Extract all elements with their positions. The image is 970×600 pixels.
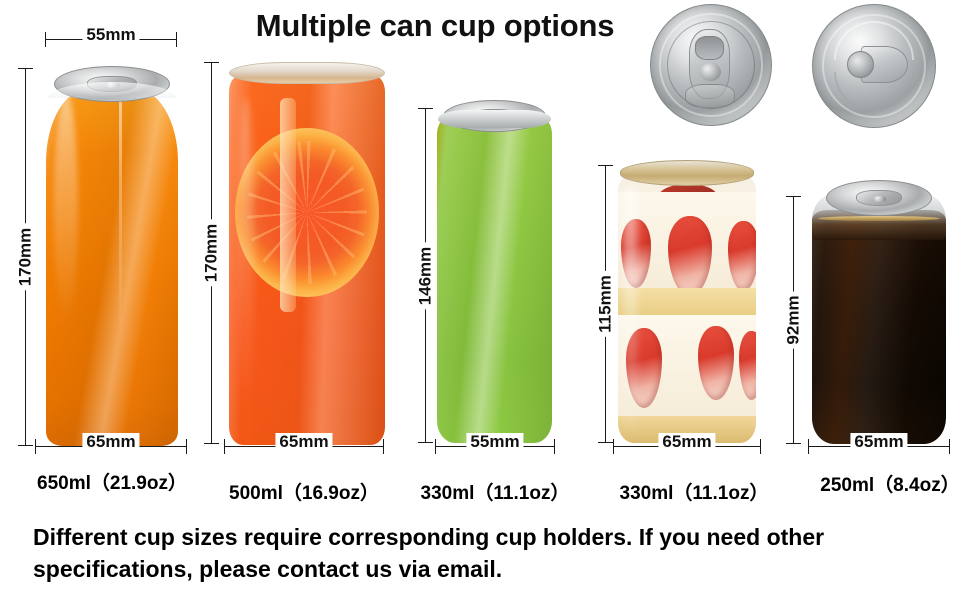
cake-layer [618,288,756,315]
bottle-seam [119,92,122,332]
volume-caption-product-4: 330ml（11.1oz） [604,478,784,505]
can-rim [229,62,385,84]
dimension-base-width-product-5: 65mm [808,437,950,455]
can-lid [826,180,932,216]
volume-caption-product-5: 250ml（8.4oz） [800,470,970,497]
bottle-gloss [54,92,78,328]
jar-body [618,176,756,443]
infographic-canvas: Multiple can cup options 55mm 170mm [0,0,970,600]
can-body [812,210,946,444]
strawberry-slice [728,221,756,290]
footer-note: Different cup sizes require correspondin… [33,521,933,585]
straw-graphic [280,98,296,312]
lid-score-line [685,84,735,108]
dimension-height-product-3: 146mm [416,108,434,443]
dimension-base-width-product-1: 65mm [35,437,187,455]
dimension-width-top-product-1: 55mm [45,30,177,48]
product-image-cola-short-can [812,180,946,444]
tab-rivet [873,196,887,201]
dimension-height-product-2: 170mm [202,62,220,444]
dimension-height-product-5: 92mm [784,196,802,444]
page-title: Multiple can cup options [225,8,645,44]
wide-mouth-lid-icon [812,4,936,128]
jar-gloss [624,187,638,433]
can-gold-ring [818,216,940,221]
dimension-base-width-product-2: 65mm [224,437,384,455]
jar-cap-ring [620,160,754,186]
tab-hole [847,51,874,78]
dimension-base-width-product-4: 65mm [613,437,761,455]
product-image-orange-juice-bottle-can [46,66,178,446]
product-image-green-slim-can [437,100,552,443]
can-gloss [238,98,254,423]
dimension-height-product-1: 170mm [16,68,34,446]
can-body [229,76,385,445]
volume-caption-product-1: 650ml（21.9oz） [22,468,202,495]
tab-hole [695,36,724,60]
can-collar [438,110,551,128]
volume-caption-product-2: 500ml（16.9oz） [214,478,394,505]
product-image-orange-slice-can [229,62,385,445]
dimension-height-product-4: 115mm [596,165,614,443]
orange-slice-graphic [235,128,379,298]
ring-pull-lid-icon [650,4,772,126]
volume-caption-product-3: 330ml（11.1oz） [405,478,585,505]
dimension-base-width-product-3: 55mm [435,437,555,455]
product-image-strawberry-dessert-jar [618,160,756,443]
tab-rivet [700,63,720,81]
can-body [437,116,552,443]
